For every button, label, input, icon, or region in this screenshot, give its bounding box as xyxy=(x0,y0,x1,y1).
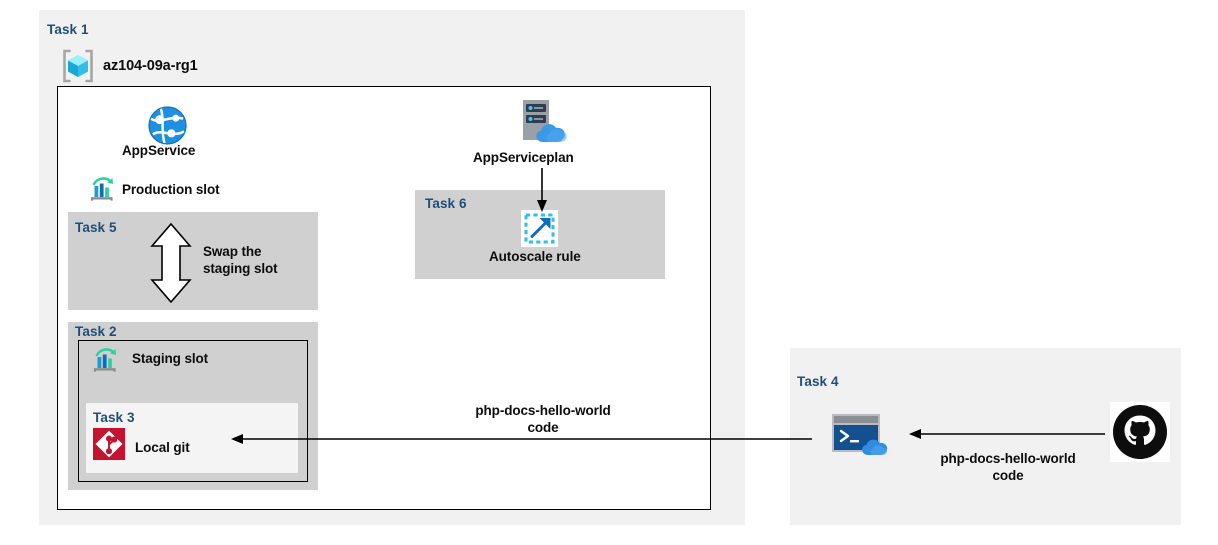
task4-label: Task 4 xyxy=(797,374,839,389)
task4-arrow-label: php-docs-hello-worldcode xyxy=(908,450,1108,485)
deployment-slot-icon xyxy=(91,346,121,376)
deployment-slot-icon xyxy=(88,175,118,205)
center-arrow-line1: php-docs-hello-world xyxy=(475,403,610,418)
appservice-label: AppService xyxy=(122,143,195,158)
task1-label: Task 1 xyxy=(47,22,89,37)
swap-double-arrow-icon xyxy=(148,222,194,304)
autoscale-rule-label: Autoscale rule xyxy=(489,249,581,264)
app-service-plan-icon xyxy=(513,98,570,146)
staging-slot-label: Staging slot xyxy=(132,351,208,366)
production-slot-label: Production slot xyxy=(122,182,220,197)
github-octocat-icon xyxy=(1110,402,1170,462)
git-icon xyxy=(93,428,125,460)
task4-arrow-line1: php-docs-hello-world xyxy=(940,451,1075,466)
task4-arrow-line2: code xyxy=(992,468,1023,483)
local-git-label: Local git xyxy=(135,440,190,455)
autoscale-arrow-icon xyxy=(521,210,558,247)
center-arrow-line2: code xyxy=(527,420,558,435)
task5-action-line1: Swap the xyxy=(203,244,261,259)
resource-group-name: az104-09a-rg1 xyxy=(103,58,198,74)
task3-label: Task 3 xyxy=(93,410,135,425)
center-arrow-label: php-docs-hello-worldcode xyxy=(443,402,643,437)
app-service-globe-icon xyxy=(148,106,187,145)
task6-label: Task 6 xyxy=(425,196,467,211)
task5-action-label: Swap thestaging slot xyxy=(203,243,318,278)
appserviceplan-label: AppServiceplan xyxy=(473,150,574,165)
resource-group-cube-icon xyxy=(60,49,96,83)
task5-label: Task 5 xyxy=(75,220,117,235)
task2-label: Task 2 xyxy=(75,324,117,339)
diagram-canvas: Task 1 az104-09a-rg1 A xyxy=(0,0,1218,545)
cloud-shell-icon xyxy=(832,414,898,458)
task5-action-line2: staging slot xyxy=(203,261,278,276)
